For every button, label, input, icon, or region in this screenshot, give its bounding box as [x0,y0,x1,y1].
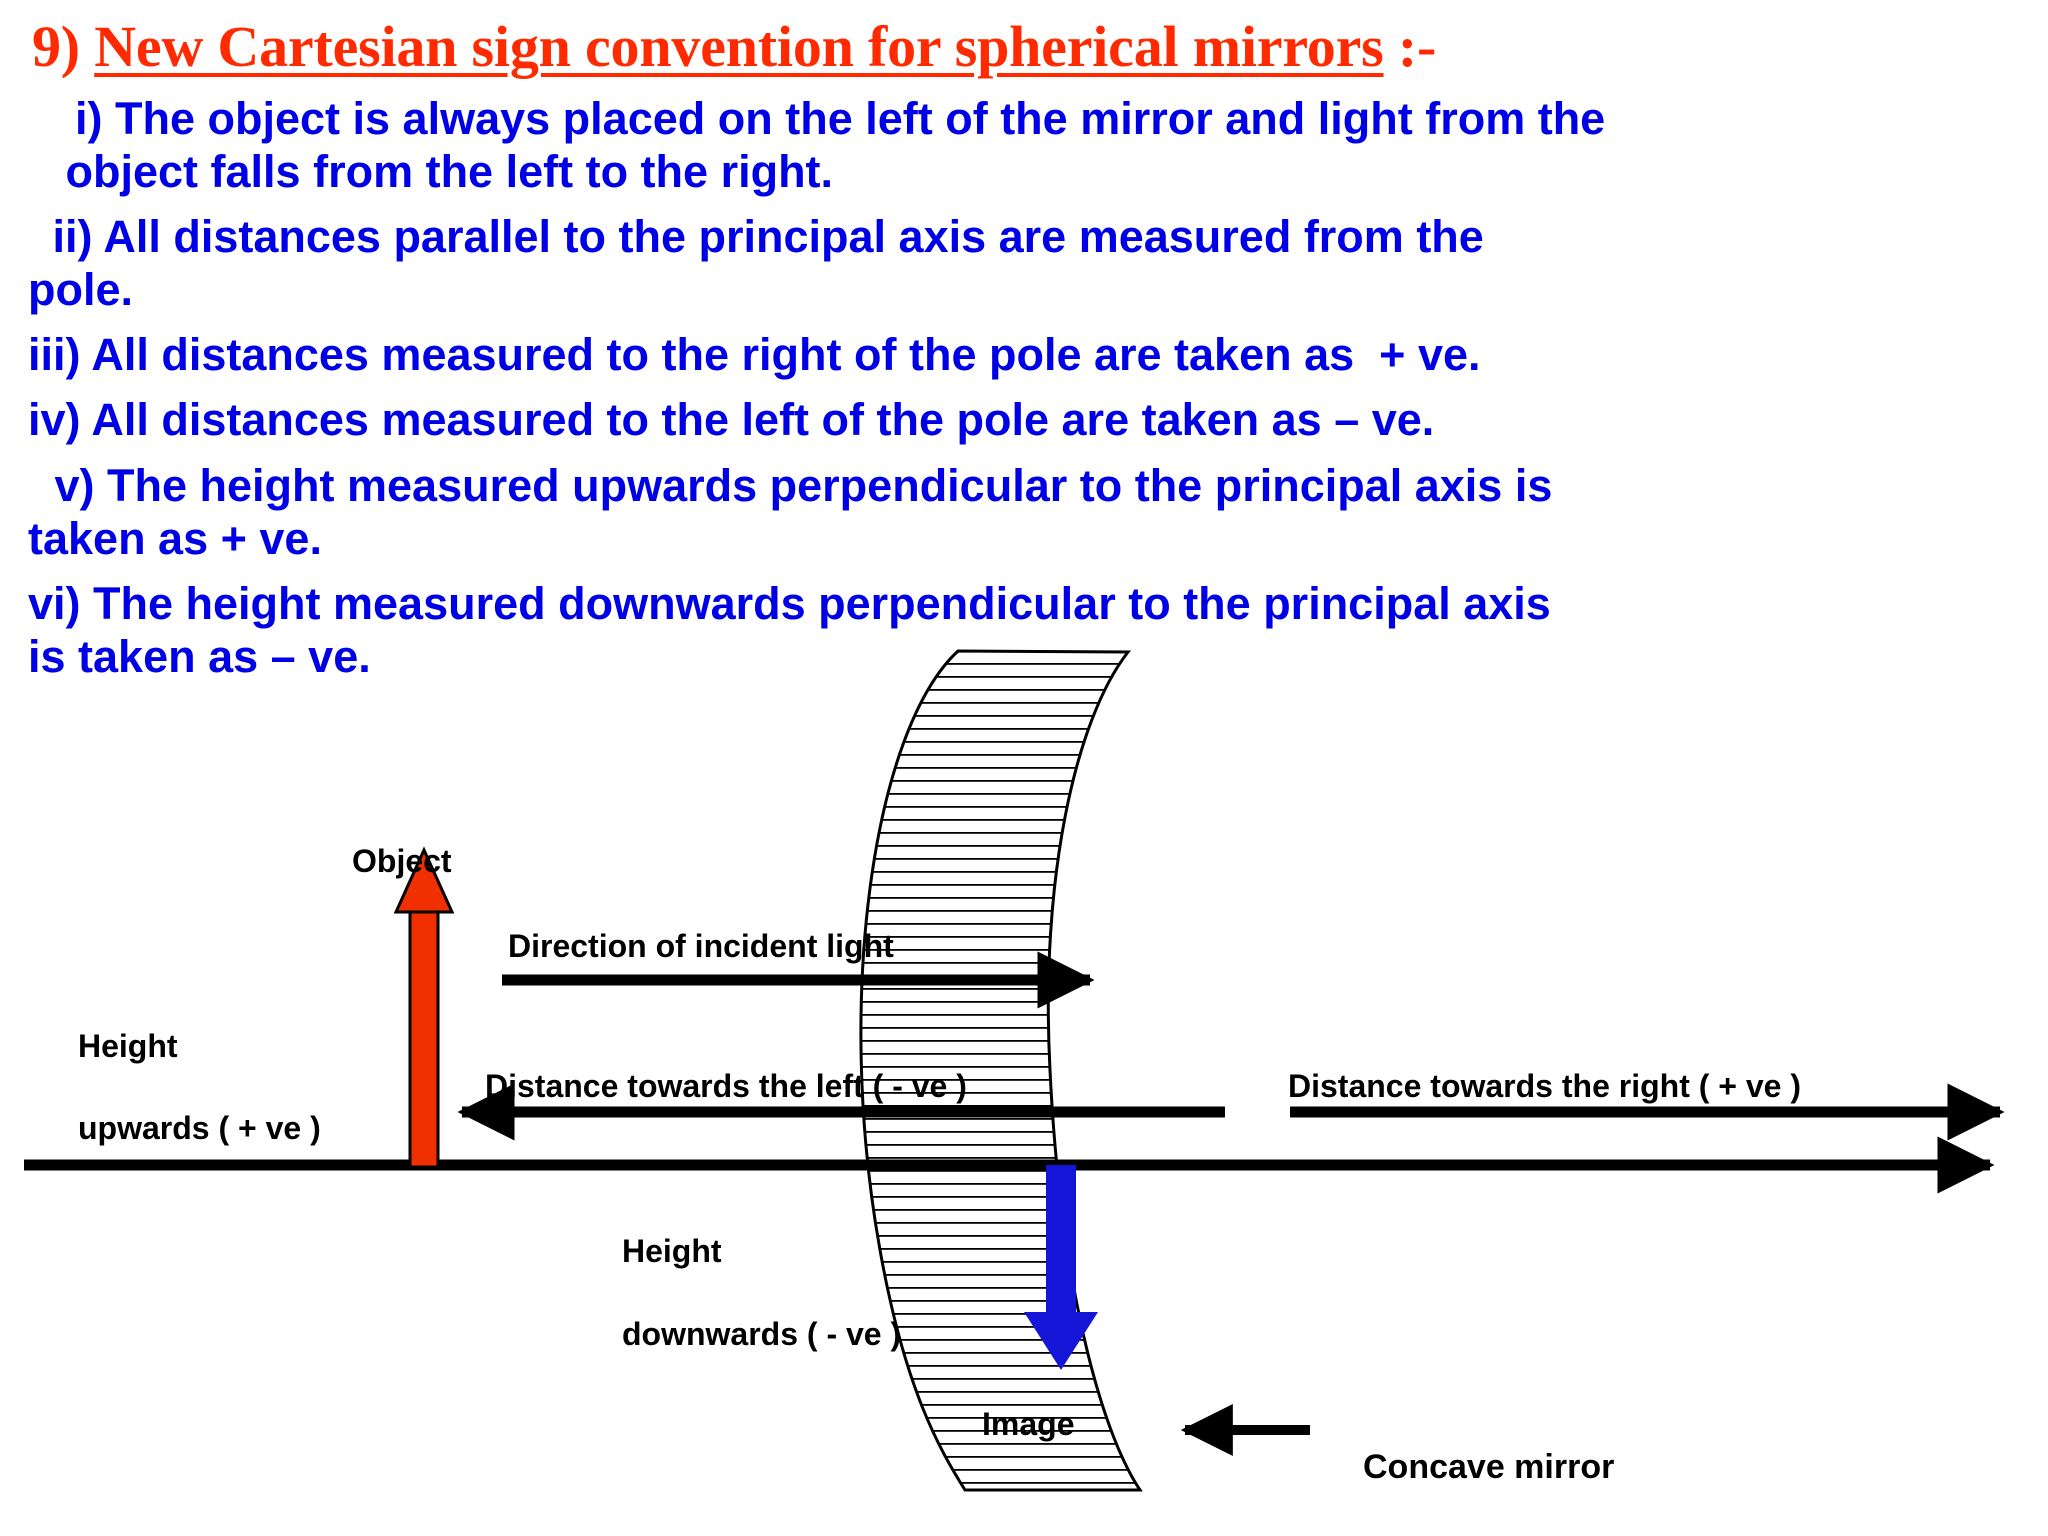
sign-convention-list: i) The object is always placed on the le… [28,92,2038,695]
list-item-v: v) The height measured upwards perpendic… [28,459,2038,565]
label-distance-right: Distance towards the right ( + ve ) [1288,1070,1801,1102]
label-direction-of-incident-light: Direction of incident light [508,930,894,962]
list-item-i: i) The object is always placed on the le… [28,92,2038,198]
list-item-iii: iii) All distances measured to the right… [28,328,2038,381]
label-object: Object [352,845,452,877]
title-underlined-text: New Cartesian sign convention for spheri… [94,14,1383,79]
page-title: 9) New Cartesian sign convention for sph… [32,18,2032,76]
title-prefix: 9) [32,14,94,79]
label-height-upwards-line1: Height [78,1030,178,1062]
label-height-upwards-line2: upwards ( + ve ) [78,1112,321,1144]
label-image: Image [982,1408,1074,1440]
label-height-downwards-line2: downwards ( - ve ) [622,1318,901,1350]
slide-canvas: 9) New Cartesian sign convention for sph… [0,0,2048,1536]
list-item-ii: ii) All distances parallel to the princi… [28,210,2038,316]
image-arrow [1024,1165,1098,1370]
label-distance-left: Distance towards the left ( - ve ) [485,1070,967,1102]
object-arrow [396,850,452,1167]
label-height-downwards-line1: Height [622,1235,722,1267]
title-suffix: :- [1384,14,1437,79]
list-item-iv: iv) All distances measured to the left o… [28,393,2038,446]
list-item-vi: vi) The height measured downwards perpen… [28,577,2038,683]
label-concave-mirror: Concave mirror [1363,1450,1614,1484]
